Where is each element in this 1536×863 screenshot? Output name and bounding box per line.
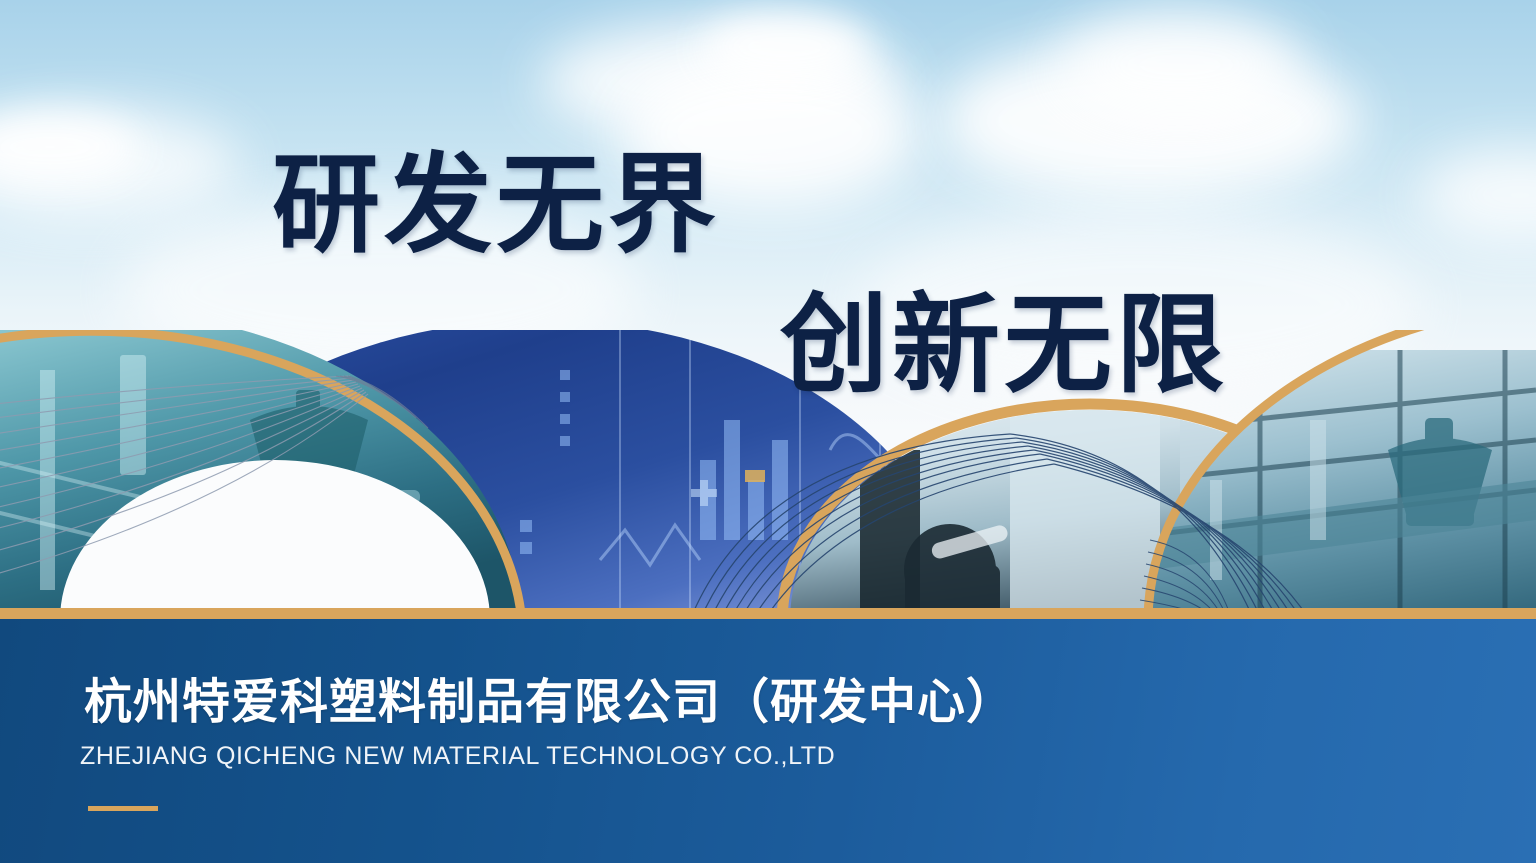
- company-name-en: ZHEJIANG QICHENG NEW MATERIAL TECHNOLOGY…: [80, 742, 835, 771]
- hero-title-line-2: 创新无限: [780, 288, 1228, 402]
- company-name-cn: 杭州特爱科塑料制品有限公司（研发中心）: [84, 662, 1015, 732]
- hero-title-line-1: 研发无界: [272, 148, 720, 262]
- hero-title-block: 研发无界 创新无限: [0, 0, 1536, 625]
- gold-divider-rule: [0, 608, 1536, 619]
- slide-root: 研发无界 创新无限 杭州特爱科塑料制品有限公司（研发中心） ZHEJIANG Q…: [0, 0, 1536, 863]
- footer-band: [0, 619, 1536, 863]
- footer-accent-dash: [88, 806, 158, 811]
